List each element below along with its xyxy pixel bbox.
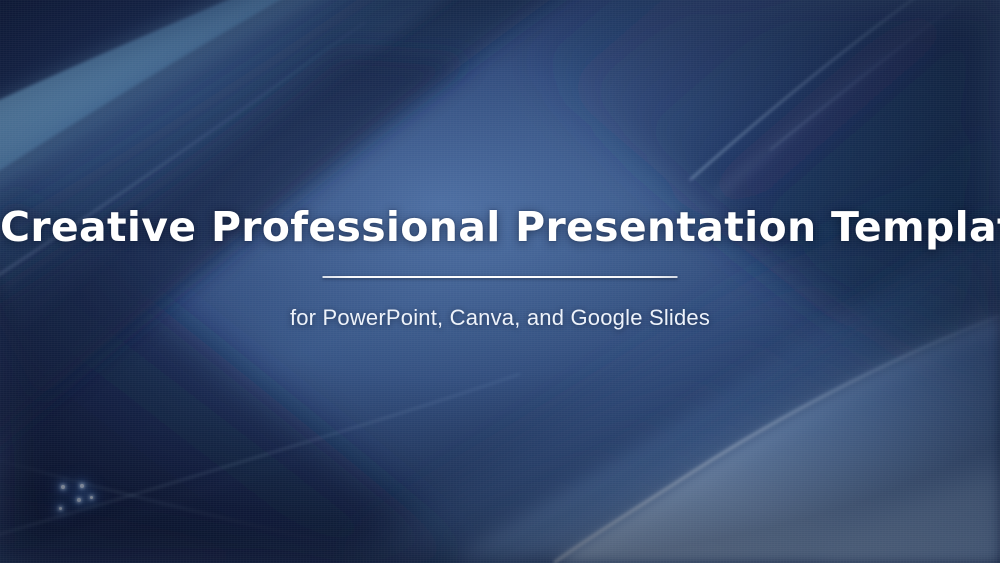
slide-content: Creative Professional Presentation Templ… [0,0,1000,563]
presentation-slide: Creative Professional Presentation Templ… [0,0,1000,563]
slide-subtitle: for PowerPoint, Canva, and Google Slides [0,305,1000,331]
title-divider [323,276,678,278]
slide-title: Creative Professional Presentation Templ… [0,205,1000,251]
